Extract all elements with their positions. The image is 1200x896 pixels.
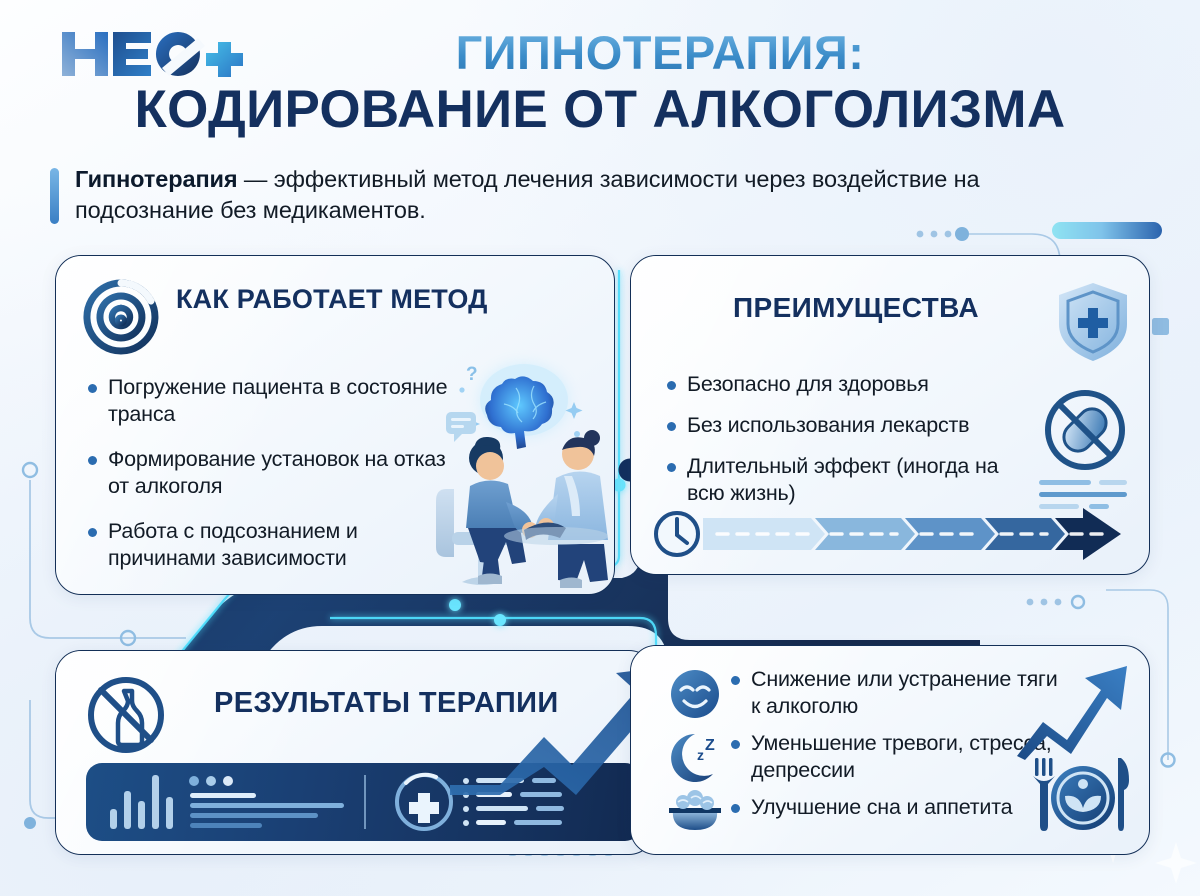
- bullet-dot: [88, 384, 97, 393]
- bullet-dot: [731, 740, 740, 749]
- bullet-dot: [667, 463, 676, 472]
- no-pills-icon: [1043, 388, 1127, 472]
- list-item: Уменьшение тревоги, стресса, депрессии: [731, 730, 1061, 784]
- bullet-dot: [88, 528, 97, 537]
- card-method-bullets: Погружение пациента в состояние транса Ф…: [88, 374, 458, 590]
- infographic-canvas: ГИПНОТЕРАПИЯ: КОДИРОВАНИЕ ОТ АЛКОГОЛИЗМА…: [0, 0, 1200, 896]
- list-item: Работа с подсознанием и причинами зависи…: [88, 518, 458, 572]
- list-item: Улучшение сна и аппетита: [731, 794, 1061, 821]
- calm-face-icon: [671, 670, 719, 718]
- bullet-dot: [731, 804, 740, 813]
- svg-text:Z: Z: [705, 737, 715, 754]
- list-item: Безопасно для здоровья: [667, 371, 1027, 398]
- shield-plus-icon: [1055, 280, 1131, 364]
- card-benefits: ПРЕИМУЩЕСТВА Безопасно для здоровья Без …: [630, 255, 1150, 575]
- list-item: Длительный эффект (иногда на всю жизнь): [667, 453, 1027, 507]
- page-title-line2: КОДИРОВАНИЕ ОТ АЛКОГОЛИЗМА: [0, 81, 1200, 139]
- cutlery-healthy-icon: [1025, 754, 1135, 844]
- growth-arrow-icon: [1013, 660, 1133, 760]
- card-benefits-title: ПРЕИМУЩЕСТВА: [631, 292, 1081, 324]
- accent-bar: [50, 168, 59, 224]
- bullet-dot: [667, 422, 676, 431]
- timeline-arrow: [653, 506, 1133, 562]
- list-item: Снижение или устранение тяги к алкоголю: [731, 666, 1061, 720]
- page-title-line1: ГИПНОТЕРАПИЯ:: [0, 28, 1200, 79]
- card-effects-bullets: Снижение или устранение тяги к алкоголю …: [731, 666, 1061, 831]
- clock-icon: [656, 513, 698, 555]
- spiral-hypnosis-icon: [82, 278, 160, 356]
- list-item: Формирование установок на отказ от алког…: [88, 446, 458, 500]
- bullet-dot: [731, 676, 740, 685]
- lead-paragraph: Гипнотерапия — эффективный метод лечения…: [50, 164, 1120, 227]
- bullet-dot: [667, 381, 676, 390]
- list-item-text: Безопасно для здоровья: [687, 371, 929, 398]
- card-how-method-works: КАК РАБОТАЕТ МЕТОД Погружение пациента в…: [55, 255, 615, 595]
- list-item-text: Улучшение сна и аппетита: [751, 794, 1012, 821]
- lead-text: Гипнотерапия — эффективный метод лечения…: [75, 164, 1120, 227]
- card-method-header: КАК РАБОТАЕТ МЕТОД: [82, 278, 488, 356]
- bullet-dot: [88, 456, 97, 465]
- chat-bubble-icon: [446, 412, 476, 442]
- list-item-text: Без использования лекарств: [687, 412, 969, 439]
- card-therapy-effects: z Z Снижение или устранение тяги к алког…: [630, 645, 1150, 855]
- card-benefits-bullets: Безопасно для здоровья Без использования…: [667, 371, 1027, 521]
- page-title-block: ГИПНОТЕРАПИЯ: КОДИРОВАНИЕ ОТ АЛКОГОЛИЗМА: [0, 28, 1200, 139]
- svg-text:z: z: [697, 747, 704, 763]
- list-item: Погружение пациента в состояние транса: [88, 374, 458, 428]
- no-alcohol-icon: [86, 675, 166, 755]
- list-item-text: Длительный эффект (иногда на всю жизнь): [687, 453, 1027, 507]
- lead-strong: Гипнотерапия: [75, 166, 238, 192]
- effects-icon-column: z Z: [665, 668, 727, 838]
- healthy-food-bowl-icon: [669, 790, 721, 830]
- list-item: Без использования лекарств: [667, 412, 1027, 439]
- sleeping-moon-icon: z Z: [671, 734, 715, 782]
- svg-text:?: ?: [466, 364, 478, 385]
- card-method-title: КАК РАБОТАЕТ МЕТОД: [176, 284, 488, 314]
- knife-icon: [1118, 758, 1129, 831]
- therapy-session-illustration: ?: [406, 354, 615, 595]
